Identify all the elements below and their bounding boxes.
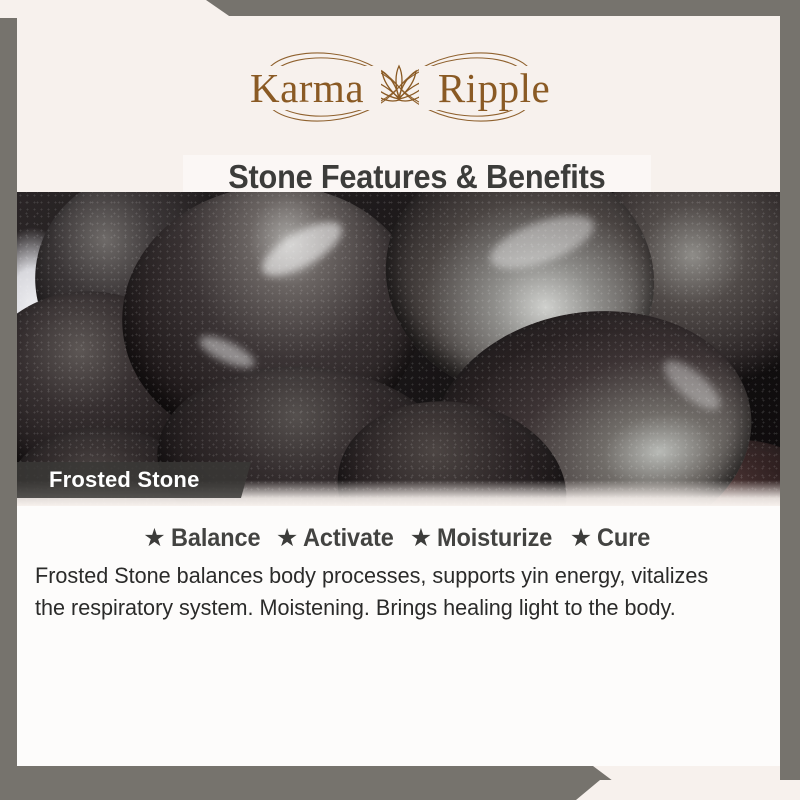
stone-name-label: Frosted Stone <box>17 467 200 493</box>
content-card: Karma Ripple Stone Features & Benefits <box>17 16 780 766</box>
benefit-item: ★ Balance <box>143 524 266 553</box>
benefit-label: Moisturize <box>437 524 552 553</box>
benefits-row: ★ Balance ★ Activate ★ Moisturize ★ Cure <box>17 524 780 553</box>
product-info-card: Karma Ripple Stone Features & Benefits <box>0 0 800 800</box>
header-band: Karma Ripple Stone Features & Benefits <box>17 16 780 192</box>
star-icon: ★ <box>570 526 592 551</box>
stone-name-banner: Frosted Stone <box>17 462 251 498</box>
star-icon: ★ <box>410 526 432 551</box>
brand-logo-artwork: Karma Ripple <box>189 44 609 130</box>
benefit-item: ★ Moisturize <box>410 524 560 553</box>
benefit-item: ★ Activate <box>276 524 400 553</box>
corner-wedge-bottom-right <box>576 780 800 800</box>
photo-grain <box>17 192 780 506</box>
page-title: Stone Features & Benefits <box>228 158 605 196</box>
benefit-label: Activate <box>303 524 394 553</box>
star-icon: ★ <box>276 526 298 551</box>
benefit-label: Balance <box>171 524 260 553</box>
brand-name-right: Ripple <box>437 65 549 111</box>
brand-name-left: Karma <box>249 65 363 111</box>
star-icon: ★ <box>143 526 165 551</box>
stone-photo <box>17 192 780 506</box>
benefit-item: ★ Cure <box>570 524 654 553</box>
benefit-label: Cure <box>597 524 650 553</box>
brand-logo: Karma Ripple <box>17 44 780 130</box>
stone-description: Frosted Stone balances body processes, s… <box>35 560 736 624</box>
